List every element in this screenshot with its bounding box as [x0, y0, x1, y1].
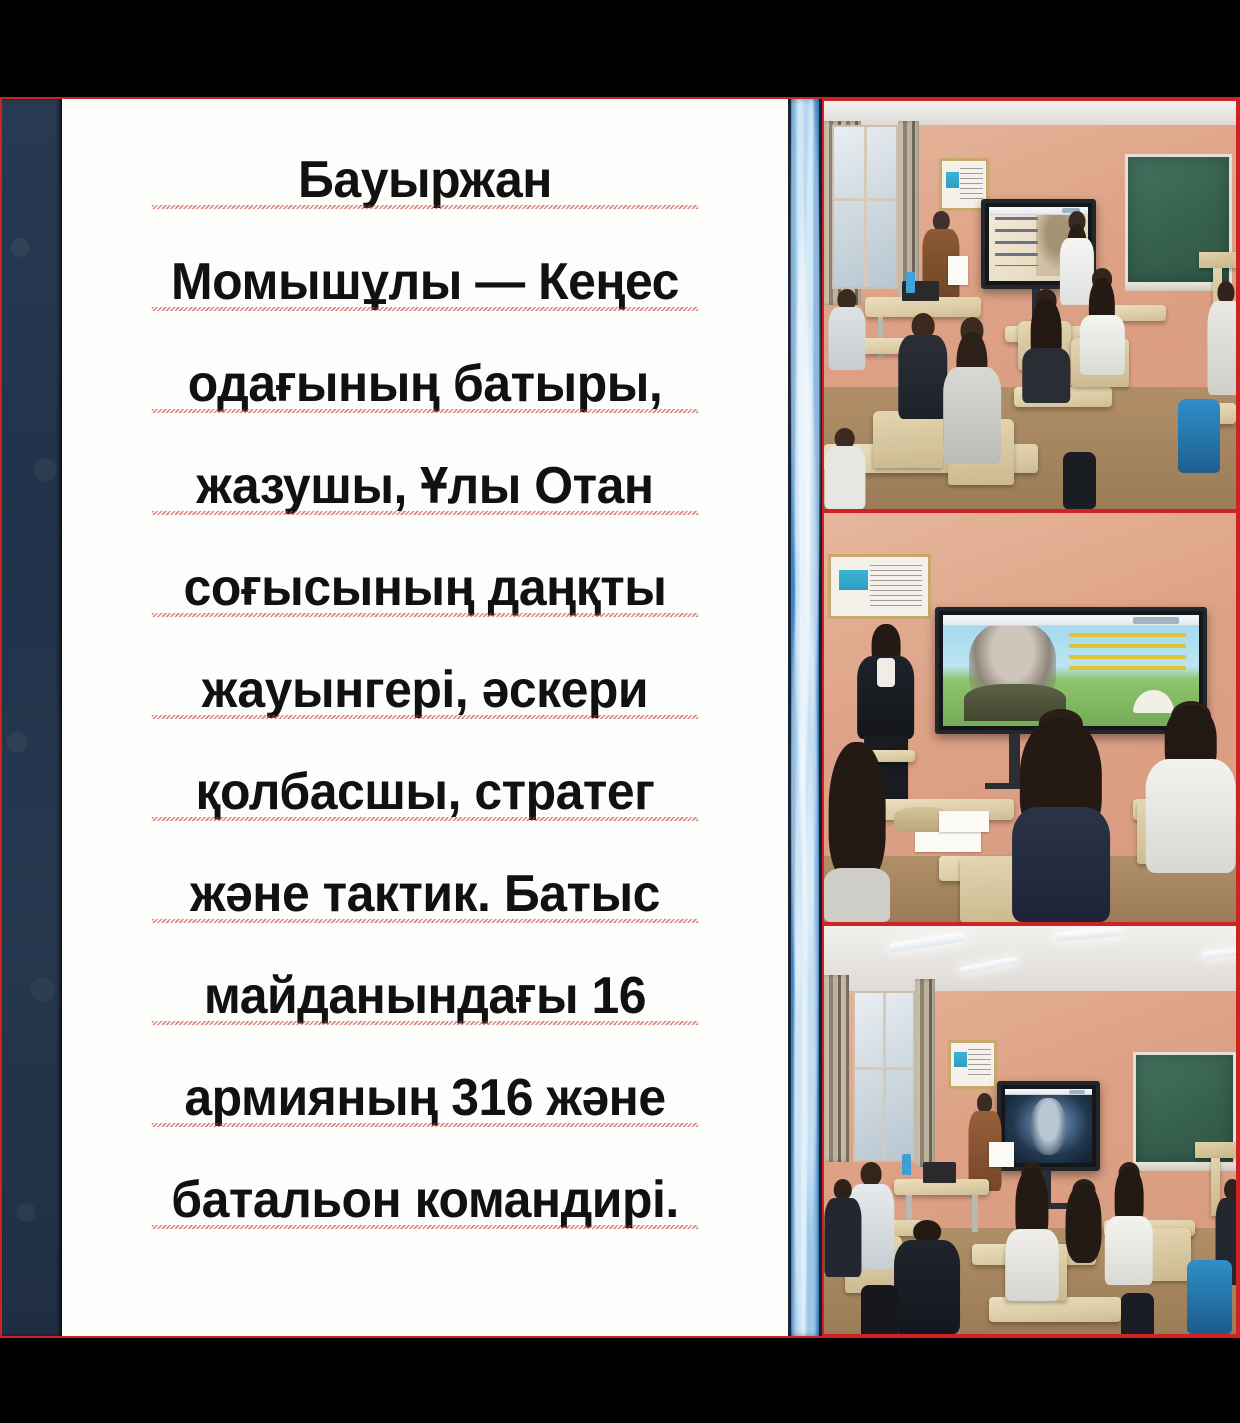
info-poster — [948, 1040, 997, 1089]
photo-column — [822, 99, 1240, 1336]
handout-papers — [948, 256, 969, 285]
composite-slide: Бауыржан Момышұлы — Кеңес одағының батыр… — [0, 97, 1240, 1338]
info-poster — [828, 554, 931, 619]
curtain — [824, 975, 849, 1163]
ceiling — [824, 101, 1236, 125]
poster-text-lines — [870, 565, 922, 607]
screenshot-stage: Бауыржан Момышұлы — Кеңес одағының батыр… — [0, 0, 1240, 1423]
body — [894, 1240, 960, 1334]
body — [1080, 315, 1124, 374]
backpack — [1178, 399, 1219, 472]
poster-flag-graphic — [946, 172, 959, 188]
student-seated — [943, 317, 1001, 464]
student-seated — [824, 1179, 861, 1277]
slide-text-body: Бауыржан Момышұлы — Кеңес одағының батыр… — [62, 99, 788, 1336]
body — [1105, 1216, 1153, 1285]
slide-text-line: Бауыржан — [92, 129, 758, 231]
body — [898, 335, 947, 420]
window — [832, 125, 898, 288]
slide-text-line: одағының батыры, — [92, 333, 758, 435]
poster-text-lines — [960, 168, 983, 201]
student-seated — [824, 428, 865, 510]
student-seated — [1005, 1162, 1059, 1301]
slide-text-line: майданындағы 16 — [92, 945, 758, 1047]
paper-sheet — [939, 811, 988, 831]
student-seated — [894, 1220, 960, 1334]
student-seated — [828, 289, 865, 371]
ornamental-band-left — [2, 99, 62, 1336]
body — [828, 307, 865, 371]
body — [943, 367, 1001, 464]
letterbox-top — [0, 0, 1240, 97]
curtain — [915, 979, 936, 1167]
body — [1006, 1229, 1058, 1301]
desk-leg — [972, 1195, 978, 1232]
slide-textlines — [995, 217, 1039, 266]
letterbox-bottom — [0, 1340, 1240, 1423]
body — [1207, 301, 1238, 395]
slide-text-line: армияның 316 және — [92, 1047, 758, 1149]
head — [833, 1179, 852, 1201]
water-bottle — [906, 272, 914, 292]
classroom-photo-bottom — [822, 924, 1238, 1336]
backpack — [1187, 1260, 1232, 1333]
slide-quote-text — [1069, 633, 1187, 675]
text-slide-panel: Бауыржан Момышұлы — Кеңес одағының батыр… — [0, 99, 822, 1336]
body — [1012, 807, 1110, 922]
body — [1145, 759, 1236, 872]
equipment-box — [923, 1162, 956, 1182]
student-seated — [1145, 701, 1236, 872]
water-bottle — [902, 1154, 910, 1174]
student-seated — [1079, 268, 1124, 374]
classroom-photo-middle — [822, 511, 1238, 923]
lectern — [1199, 252, 1236, 268]
hair — [829, 742, 886, 882]
head — [1217, 281, 1234, 304]
momyshuly-video-portrait — [1031, 1098, 1066, 1156]
slide-text-line: және тактик. Батыс — [92, 843, 758, 945]
lectern — [1195, 1142, 1236, 1158]
body — [824, 446, 865, 510]
slide-text-line: жазушы, Ұлы Отан — [92, 435, 758, 537]
student-seated — [824, 742, 890, 922]
backpack — [1063, 452, 1096, 509]
slide-content-video — [1005, 1089, 1092, 1163]
poster-flag-graphic — [839, 570, 868, 590]
backpack — [861, 1285, 898, 1336]
poster-flag-graphic — [954, 1052, 967, 1067]
ornamental-band-right — [788, 99, 822, 1336]
slide-text-line: батальон командирі. — [92, 1149, 758, 1251]
blouse — [877, 658, 895, 687]
browser-tab — [1069, 1090, 1085, 1094]
browser-tab — [1133, 617, 1179, 624]
student-seated — [1022, 289, 1071, 403]
window — [853, 991, 915, 1162]
body — [824, 868, 890, 922]
student-seated — [898, 313, 947, 419]
head — [913, 1220, 941, 1243]
slide-text-line: Момышұлы — Кеңес — [92, 231, 758, 333]
body — [824, 1198, 861, 1276]
poster-text-lines — [968, 1049, 991, 1079]
ceiling — [824, 926, 1236, 991]
classroom-photo-top — [822, 99, 1238, 511]
worksheet — [915, 832, 981, 852]
head — [1224, 1179, 1238, 1200]
student-seated — [1207, 281, 1238, 395]
body — [1023, 348, 1070, 403]
chair — [873, 411, 943, 468]
student-seated — [1104, 1162, 1153, 1284]
smartboard-screen — [1005, 1089, 1092, 1163]
slide-text-line: қолбасшы, стратег — [92, 741, 758, 843]
slide-text-line: соғысының даңқты — [92, 537, 758, 639]
head — [861, 1162, 882, 1185]
backpack — [1121, 1293, 1154, 1336]
head — [933, 211, 949, 231]
student-seated — [1005, 709, 1116, 921]
slide-text-line: жауынгері, әскери — [92, 639, 758, 741]
